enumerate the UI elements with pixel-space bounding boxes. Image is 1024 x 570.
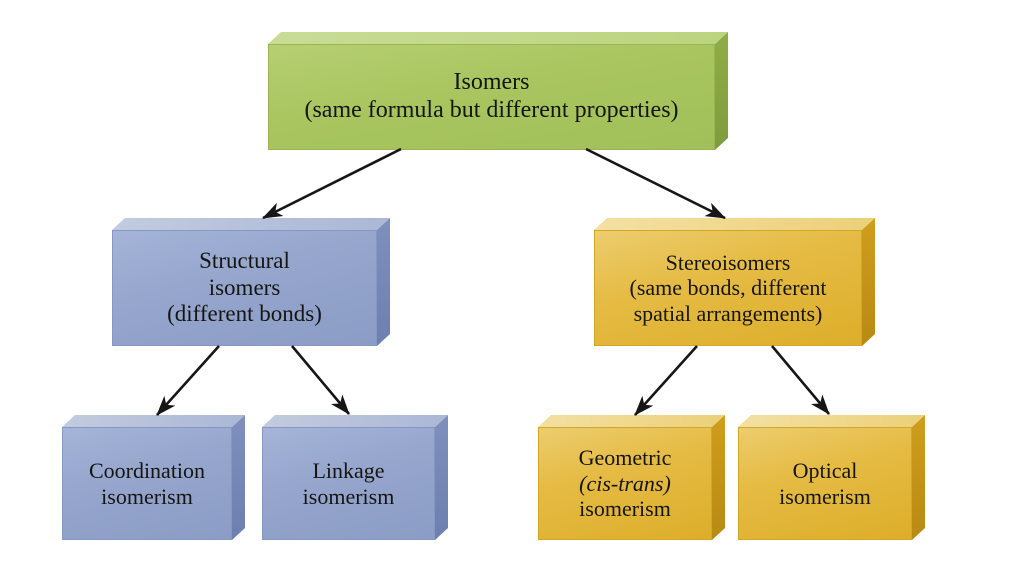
node-isomers-top-face — [268, 32, 728, 44]
arrow-stereoisomers-to-optical — [772, 346, 829, 414]
node-optical-isomerism-line-1: Optical — [747, 458, 903, 484]
node-coordination-isomerism-front-face: Coordination isomerism — [62, 427, 232, 540]
node-stereoisomers-line-3: spatial arrangements) — [603, 301, 853, 327]
node-structural-isomers-top-face — [112, 218, 390, 230]
node-stereoisomers-side-face — [862, 218, 875, 346]
node-stereoisomers[interactable]: Stereoisomers (same bonds, different spa… — [594, 218, 875, 346]
node-structural-isomers-side-face — [377, 218, 390, 346]
node-optical-isomerism-side-face — [912, 415, 925, 540]
node-linkage-isomerism-top-face — [262, 415, 448, 427]
node-coordination-isomerism-top-face — [62, 415, 245, 427]
node-geometric-cis-trans-isomerism-side-face — [712, 415, 725, 540]
node-structural-isomers[interactable]: Structural isomers (different bonds) — [112, 218, 390, 346]
node-optical-isomerism-label: Optical isomerism — [747, 458, 903, 509]
node-optical-isomerism-line-2: isomerism — [747, 484, 903, 510]
node-coordination-isomerism-label: Coordination isomerism — [71, 458, 223, 509]
node-structural-isomers-label: Structural isomers (different bonds) — [121, 248, 368, 328]
node-linkage-isomerism-line-2: isomerism — [271, 484, 426, 510]
node-coordination-isomerism-line-2: isomerism — [71, 484, 223, 510]
node-linkage-isomerism-front-face: Linkage isomerism — [262, 427, 435, 540]
node-geometric-cis-trans-isomerism[interactable]: Geometric (cis-trans) isomerism — [538, 415, 725, 540]
node-structural-isomers-line-2: isomers — [121, 275, 368, 302]
node-isomers-label: Isomers (same formula but different prop… — [277, 69, 706, 125]
node-geometric-cis-trans-isomerism-label: Geometric (cis-trans) isomerism — [547, 445, 703, 522]
node-optical-isomerism[interactable]: Optical isomerism — [738, 415, 925, 540]
node-geometric-cis-trans-isomerism-line-2: (cis-trans) — [547, 471, 703, 497]
node-coordination-isomerism-line-1: Coordination — [71, 458, 223, 484]
arrow-structural-to-coordination — [157, 346, 219, 415]
diagram-canvas: Isomers (same formula but different prop… — [0, 0, 1024, 570]
node-stereoisomers-line-2: (same bonds, different — [603, 275, 853, 301]
node-isomers-line-1: Isomers — [277, 69, 706, 97]
node-isomers[interactable]: Isomers (same formula but different prop… — [268, 32, 728, 150]
node-coordination-isomerism[interactable]: Coordination isomerism — [62, 415, 245, 540]
node-linkage-isomerism-label: Linkage isomerism — [271, 458, 426, 509]
node-stereoisomers-top-face — [594, 218, 875, 230]
node-linkage-isomerism-line-1: Linkage — [271, 458, 426, 484]
node-structural-isomers-front-face: Structural isomers (different bonds) — [112, 230, 377, 346]
arrow-isomers-to-stereoisomers — [586, 149, 725, 218]
node-geometric-cis-trans-isomerism-line-3: isomerism — [547, 496, 703, 522]
node-stereoisomers-front-face: Stereoisomers (same bonds, different spa… — [594, 230, 862, 346]
node-isomers-line-2: (same formula but different properties) — [277, 97, 706, 125]
arrow-isomers-to-structural — [263, 149, 401, 218]
node-stereoisomers-line-1: Stereoisomers — [603, 250, 853, 276]
node-linkage-isomerism-side-face — [435, 415, 448, 540]
node-structural-isomers-line-1: Structural — [121, 248, 368, 275]
node-isomers-front-face: Isomers (same formula but different prop… — [268, 44, 715, 150]
arrow-stereoisomers-to-geometric — [635, 346, 697, 415]
node-isomers-side-face — [715, 32, 728, 150]
node-geometric-cis-trans-isomerism-line-1: Geometric — [547, 445, 703, 471]
node-geometric-cis-trans-isomerism-front-face: Geometric (cis-trans) isomerism — [538, 427, 712, 540]
node-optical-isomerism-front-face: Optical isomerism — [738, 427, 912, 540]
node-geometric-cis-trans-isomerism-top-face — [538, 415, 725, 427]
node-linkage-isomerism[interactable]: Linkage isomerism — [262, 415, 448, 540]
node-optical-isomerism-top-face — [738, 415, 925, 427]
arrow-structural-to-linkage — [292, 346, 349, 414]
node-coordination-isomerism-side-face — [232, 415, 245, 540]
node-stereoisomers-label: Stereoisomers (same bonds, different spa… — [603, 250, 853, 327]
node-structural-isomers-line-3: (different bonds) — [121, 301, 368, 328]
